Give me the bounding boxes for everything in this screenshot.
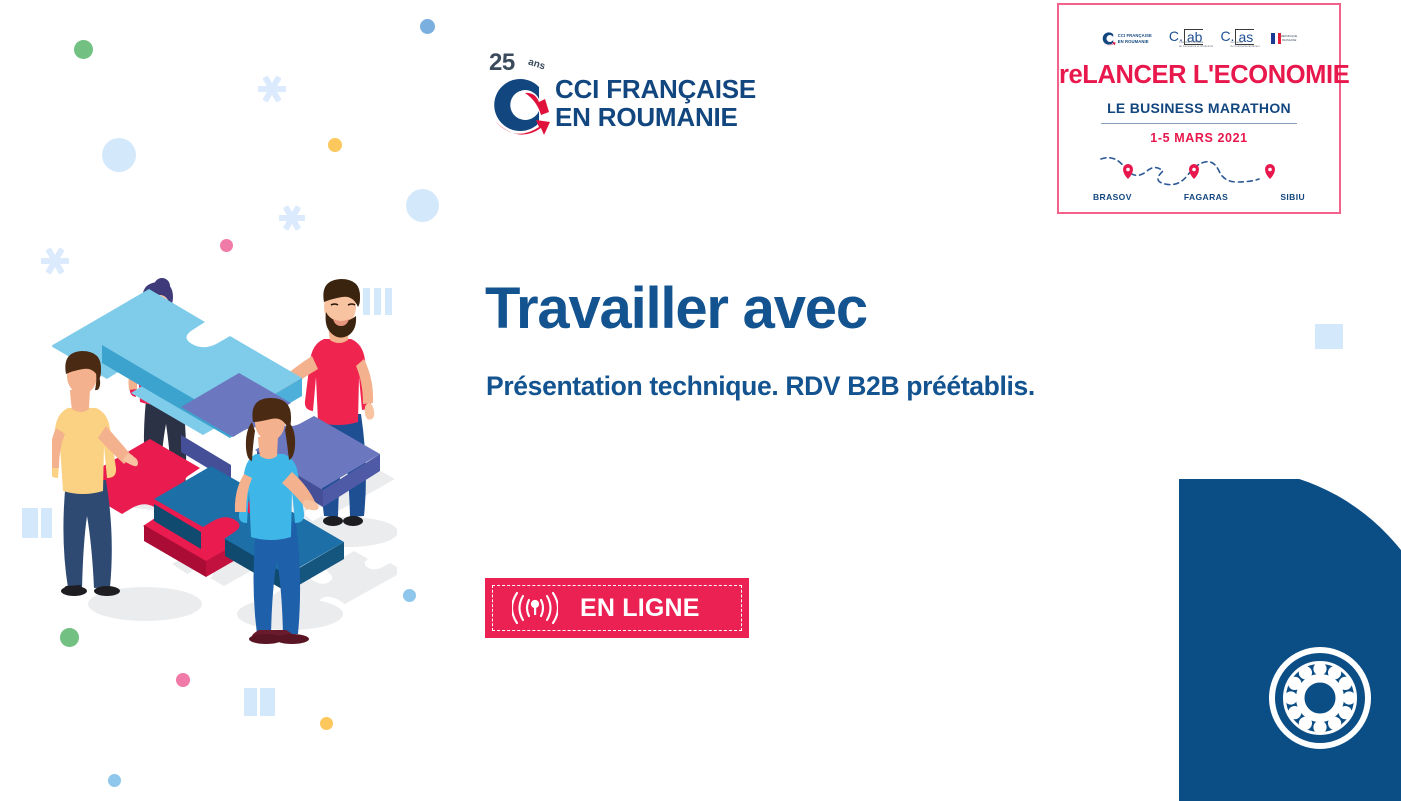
cci-c-arrow-logo (487, 73, 551, 137)
cci-small-mark-icon (1101, 31, 1116, 46)
navy-corner-shape (1179, 479, 1401, 801)
cfab-caption: Chambre Française de Commerce et d'Indus… (1179, 41, 1213, 48)
event-route-map: BRASOV FAGARAS SIBIU (1079, 150, 1319, 202)
event-title: reLANCER L'ECONOMIE (1059, 61, 1339, 90)
cci-francaise-en-roumanie-logo: 25 ans CCI FRANÇAISE EN ROUMANIE (487, 51, 732, 139)
team-assembling-puzzle-pieces-illustration (52, 264, 397, 649)
en-ligne-button[interactable]: EN LIGNE (485, 578, 749, 638)
event-divider (1101, 123, 1297, 124)
route-city-labels: BRASOV FAGARAS SIBIU (1079, 192, 1319, 202)
cfas-caption: Conseiller du Commerce Extérieur (1230, 41, 1260, 48)
cfab-logo: C.ab Chambre Française de Commerce et d'… (1169, 28, 1204, 49)
dot-blue-bottom (108, 774, 121, 787)
route-city-brasov: BRASOV (1093, 192, 1132, 202)
page-title: Travailler avec (485, 279, 867, 340)
cfas-logo: C.as Conseiller du Commerce Extérieur (1220, 28, 1254, 49)
dot-yellow-lower (320, 717, 333, 730)
square-right (1315, 324, 1343, 349)
squares-lower-mid (244, 688, 275, 716)
dot-green-top-left (74, 40, 93, 59)
dot-lightblue-large (102, 138, 136, 172)
broadcast-signal-icon (512, 591, 558, 625)
anniversary-number: 25 (489, 51, 515, 75)
dot-blue-right-mid (403, 589, 416, 602)
partner-logo-row: CCI FRANÇAISE EN ROUMANIE C.ab Chambre F… (1059, 28, 1339, 49)
event-dates: 1-5 MARS 2021 (1059, 131, 1339, 145)
brand-name: CCI FRANÇAISE EN ROUMANIE (555, 76, 756, 131)
dot-yellow-upper (328, 138, 342, 152)
dot-lightblue-large-2 (406, 189, 439, 222)
republic-motto: RÉPUBLIQUE FRANÇAISE (1281, 35, 1297, 42)
en-ligne-button-label: EN LIGNE (580, 594, 700, 623)
french-flag-logo: RÉPUBLIQUE FRANÇAISE (1271, 33, 1297, 44)
cci-small-label: CCI FRANÇAISE EN ROUMANIE (1118, 33, 1152, 44)
flake-top-mid (258, 75, 286, 103)
squares-left (22, 508, 52, 538)
event-subtitle: LE BUSINESS MARATHON (1059, 100, 1339, 116)
flake-mid (279, 205, 305, 231)
dot-pink-upper (220, 239, 233, 252)
cci-small-logo: CCI FRANÇAISE EN ROUMANIE (1101, 31, 1152, 46)
presentation-slide: 25 ans CCI FRANÇAISE EN ROUMANIE CCI (0, 0, 1401, 801)
dot-blue-top (420, 19, 435, 34)
dot-pink-lower (176, 673, 190, 687)
anniversary-unit: ans (527, 57, 547, 73)
tricolour-bars-icon (1271, 33, 1281, 44)
ball-bearing-logo (1268, 646, 1372, 750)
route-city-fagaras: FAGARAS (1184, 192, 1228, 202)
map-pin-icon (1123, 164, 1275, 179)
route-city-sibiu: SIBIU (1280, 192, 1305, 202)
event-badge-card: CCI FRANÇAISE EN ROUMANIE C.ab Chambre F… (1057, 3, 1341, 214)
page-subtitle: Présentation technique. RDV B2B préétabl… (486, 371, 1035, 402)
